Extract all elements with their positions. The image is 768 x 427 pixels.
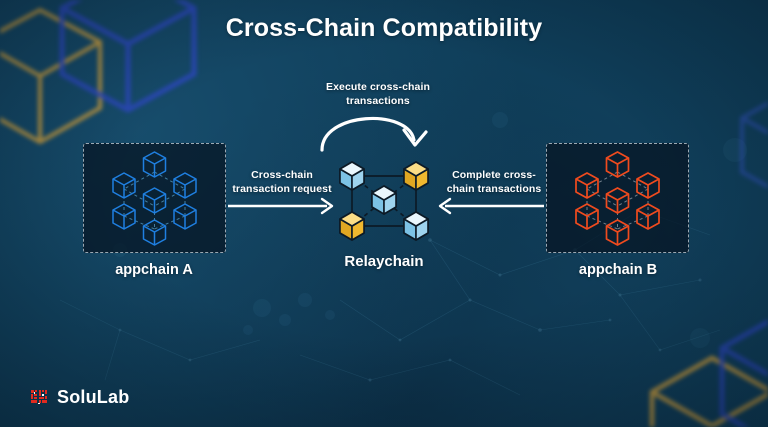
page-title: Cross-Chain Compatibility — [0, 14, 768, 43]
relay-node-5 — [404, 212, 428, 240]
flow-caption-request-line1: Cross-chain — [228, 168, 336, 182]
flow-caption-request-line2: transaction request — [228, 182, 336, 196]
appchain-b-label: appchain B — [518, 262, 718, 278]
flow-arrow-request-icon — [228, 196, 336, 216]
appchain-a-nodes — [113, 152, 196, 245]
solulab-mark-icon — [30, 388, 50, 408]
appchain-b-box[interactable] — [546, 143, 689, 253]
appchain-a-network-icon — [84, 144, 225, 252]
flow-caption-complete-line1: Complete cross- — [438, 168, 550, 182]
flow-caption-complete: Complete cross- chain transactions — [438, 168, 550, 196]
flow-arrow-complete-icon — [436, 196, 544, 216]
relay-node-1 — [340, 162, 364, 190]
solulab-logo[interactable]: SoluLab — [30, 387, 129, 408]
appchain-a-box[interactable] — [83, 143, 226, 253]
relay-node-4 — [340, 212, 364, 240]
appchain-a-label: appchain A — [54, 262, 254, 278]
flow-caption-request: Cross-chain transaction request — [228, 168, 336, 196]
appchain-b-nodes — [576, 152, 659, 245]
flow-arrow-execute-icon — [316, 104, 428, 152]
relaychain-network-icon — [330, 152, 438, 248]
diagram-canvas: Cross-Chain Compatibility — [0, 0, 768, 427]
appchain-b-network-icon — [547, 144, 688, 252]
flow-caption-execute-line1: Execute cross-chain — [312, 80, 444, 94]
relay-node-2 — [404, 162, 428, 190]
solulab-logo-text: SoluLab — [57, 387, 129, 408]
flow-caption-complete-line2: chain transactions — [438, 182, 550, 196]
relaychain-label: Relaychain — [284, 253, 484, 270]
relay-node-3 — [372, 186, 396, 214]
relaychain-cluster[interactable] — [330, 152, 438, 248]
